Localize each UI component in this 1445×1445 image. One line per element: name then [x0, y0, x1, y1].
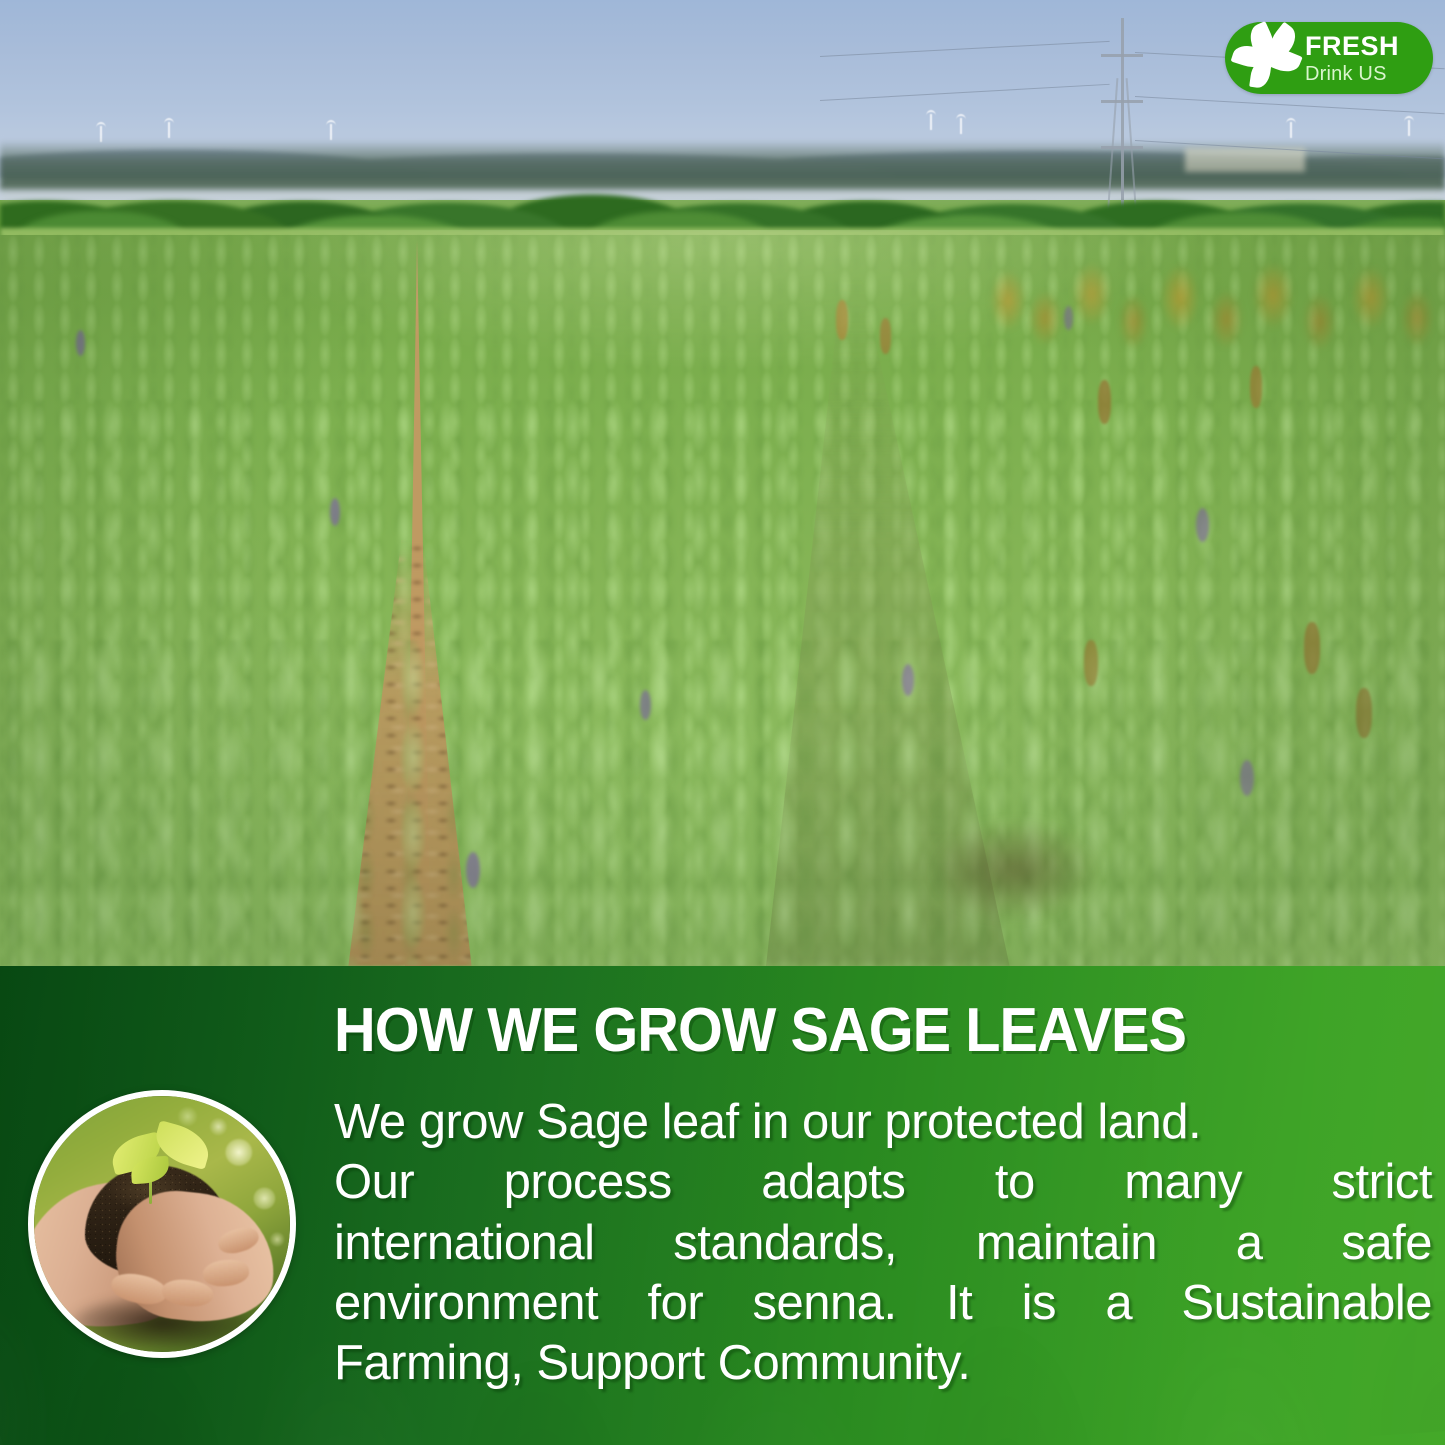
photo-vignette [0, 235, 1445, 966]
body-word: a [1236, 1213, 1263, 1273]
body-word: safe [1341, 1213, 1432, 1273]
body-word: adapts [761, 1152, 905, 1212]
body-word: is [1022, 1273, 1056, 1333]
body-word: senna. [753, 1273, 897, 1333]
body-word: maintain [976, 1213, 1157, 1273]
pylon-crossarm [1101, 100, 1143, 103]
pylon-crossarm [1101, 146, 1143, 149]
body-line: Farming, Support Community. [334, 1333, 1432, 1393]
page-title: HOW WE GROW SAGE LEAVES [334, 1000, 1357, 1062]
body-word: It [946, 1273, 972, 1333]
logo-name-primary: FRESH [1305, 33, 1399, 60]
body-line: Ourprocessadaptstomanystrict [334, 1152, 1432, 1212]
seedling-circle-image [28, 1090, 296, 1358]
wind-turbine-icon [960, 118, 962, 134]
panel-body-text: We grow Sage leaf in our protected land.… [334, 1092, 1432, 1393]
wind-turbine-icon [1408, 120, 1410, 136]
body-word: strict [1332, 1152, 1432, 1212]
pylon-crossarm [1101, 54, 1143, 57]
wind-turbine-icon [330, 124, 332, 140]
logo-wordmark: FRESH Drink US [1303, 33, 1399, 84]
body-word: many [1124, 1152, 1242, 1212]
body-word: Sustainable [1181, 1273, 1432, 1333]
poster-root: FRESH Drink US HOW WE GROW SAGE LEAVES W… [0, 0, 1445, 1445]
body-word: a [1105, 1273, 1132, 1333]
body-word: Our [334, 1152, 414, 1212]
wind-turbine-icon [930, 114, 932, 130]
body-word: process [504, 1152, 672, 1212]
body-word: for [648, 1273, 704, 1333]
brand-logo[interactable]: FRESH Drink US [1225, 22, 1433, 94]
body-word: international [334, 1213, 594, 1273]
wind-turbine-icon [168, 122, 170, 138]
body-line: environmentforsenna.ItisaSustainable [334, 1273, 1432, 1333]
logo-name-secondary: Drink US [1305, 64, 1399, 84]
body-line: We grow Sage leaf in our protected land. [334, 1092, 1432, 1152]
leaf-icon [1233, 26, 1303, 90]
body-word: to [995, 1152, 1035, 1212]
hero-photo [0, 0, 1445, 966]
body-word: environment [334, 1273, 598, 1333]
wind-turbine-icon [1290, 122, 1292, 138]
body-line: internationalstandards,maintainasafe [334, 1213, 1432, 1273]
body-word: standards, [673, 1213, 897, 1273]
